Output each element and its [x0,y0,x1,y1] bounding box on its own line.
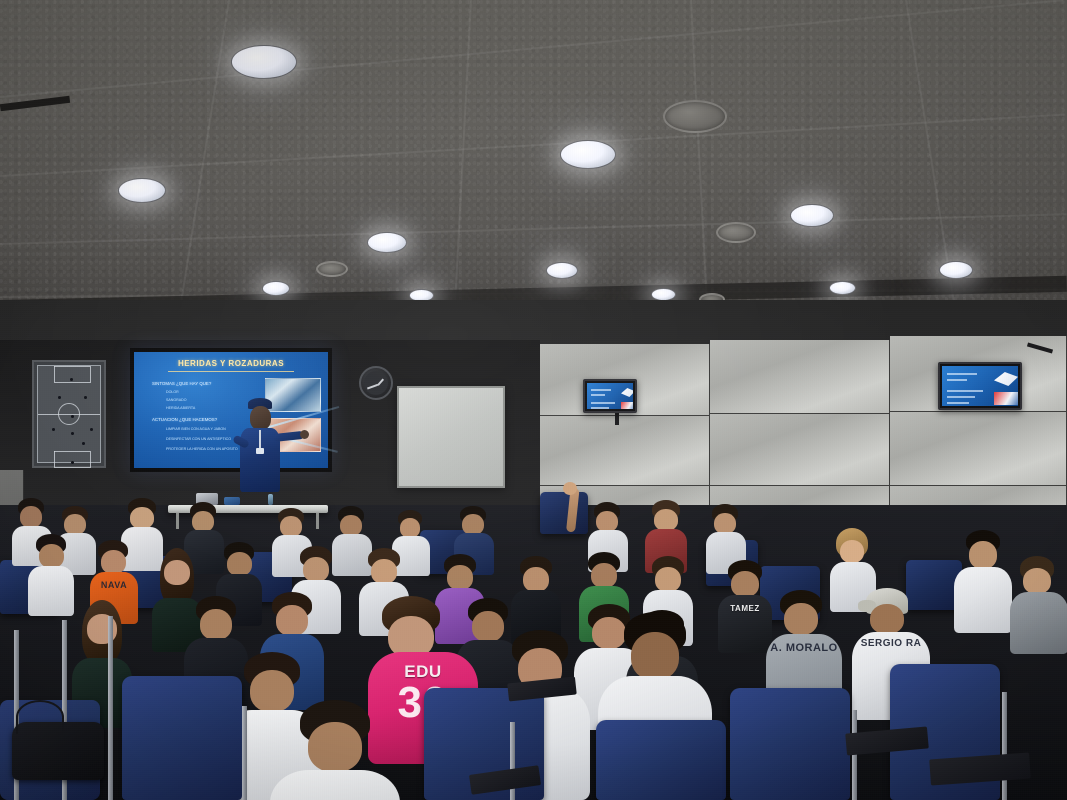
slide-sub-bullet: PROTEGER LA HERIDA CON UN APOSITO [166,447,238,451]
torso [270,770,400,800]
head [840,540,864,563]
monitor-badge [621,402,633,409]
head [447,565,473,590]
torso [954,567,1012,633]
monitor-screen [587,383,633,409]
monitor-logo [621,388,633,397]
ceiling-light [939,261,973,279]
ceiling [0,0,1067,340]
ceiling-light [790,204,834,227]
head [308,722,362,772]
pitch-box-line [54,451,90,452]
head [280,516,302,537]
head [371,559,397,584]
head [340,515,362,536]
pitch-box-line [90,366,91,382]
head [784,603,818,635]
ceiling-light [231,45,297,79]
jersey-label-sergio: SERGIO RA [852,638,930,649]
table-leg [316,513,319,529]
slide-title-underline [168,371,294,372]
ceiling-speaker [716,222,756,243]
monitor-text-line [947,402,969,404]
presenter-hand [300,430,309,439]
ceiling-light [546,262,578,279]
head [39,544,64,568]
slide-sub-bullet: HERIDA ABIERTA [166,406,195,410]
head [655,567,681,592]
slide-sub-bullet: DESINFECTAR CON UN ANTISEPTICO [166,437,231,441]
slide-title: HERIDAS Y ROZADURAS [134,359,328,368]
bag-strap [16,700,64,734]
slide-sub-bullet: LIMPIAR BIEN CON AGUA Y JABON [166,427,226,431]
lecture-room-photo: HERIDAS Y ROZADURAS SINTOMAS ¿QUE HAY QU… [0,0,1067,800]
wall-panel [710,340,890,414]
torso [1010,592,1067,654]
jersey-label-tamez: TAMEZ [718,604,772,613]
chair[interactable] [122,676,242,800]
pitch-player-marker [70,378,73,381]
head [472,611,504,642]
monitor-text-line [947,373,977,375]
chair-leg [108,616,113,800]
table-leg [176,513,179,529]
head [303,557,329,582]
pitch-player-marker [90,428,93,431]
presenter-head [250,406,271,430]
monitor-text-line [947,390,983,392]
head [731,571,759,597]
ceiling-light [118,178,166,203]
pitch-box-line [54,451,55,467]
monitor-text-line [591,389,611,391]
head [400,518,420,538]
head [631,632,679,680]
head [714,513,736,534]
presenter [228,398,298,510]
head [596,511,618,532]
head [200,609,232,640]
monitor-screen [942,366,1018,406]
head [64,514,86,535]
pitch-player-marker [58,396,61,399]
wall-panel [890,412,1067,486]
pitch-player-marker [82,442,85,445]
whiteboard [397,386,505,488]
chair-leg [1002,692,1007,800]
jersey-label-moralo: A. MORALO [766,642,842,654]
pitch-diagram [37,365,101,463]
wall-monitor-center[interactable] [583,379,637,413]
head [592,617,626,649]
monitor-badge [994,392,1018,405]
slide-sub-bullet: DOLOR [166,390,179,394]
slide-sub-bullet: SANGRADO [166,398,187,402]
monitor-logo [994,372,1018,386]
pitch-player-marker [71,461,74,464]
wall-monitor-right[interactable] [938,362,1022,410]
head [969,541,997,569]
head [130,507,154,529]
torso [28,566,74,616]
jersey-label-nava: NAVA [90,580,138,590]
ceiling-speaker [316,261,348,277]
pitch-box-line [90,451,91,467]
chair[interactable] [730,688,850,800]
head [523,567,549,592]
pitch-player-marker [52,428,55,431]
monitor-text-line [591,394,605,396]
torso [332,534,372,576]
presenter-badge [256,448,264,454]
monitor-text-line [591,402,615,404]
head [250,670,294,712]
head [101,550,126,574]
chair[interactable] [596,720,726,800]
head [227,552,252,576]
head [591,563,617,588]
monitor-text-line [947,396,975,398]
wall-panel [710,414,890,486]
head [870,604,904,634]
tactics-board [32,360,106,468]
monitor-text-line [591,407,609,409]
presenter-lanyard [259,430,261,448]
pitch-player-marker [71,415,74,418]
ceiling-light [367,232,407,253]
head [654,509,678,531]
pitch-box-line [54,366,55,382]
pitch-center-circle [58,403,80,425]
slide-bullet: ACTUACION ¿QUE HACEMOS? [152,417,217,422]
head [276,605,308,636]
pitch-box-line [54,382,91,383]
slide-bullet: SINTOMAS ¿QUE HAY QUE? [152,381,211,386]
clock-face [364,371,388,395]
ceiling-light [262,281,290,296]
wall-clock [359,366,393,400]
pitch-box-line [54,467,91,468]
pitch-box-line [54,366,90,367]
chair[interactable] [540,492,588,534]
ceiling-speaker [663,100,727,133]
raised-hand-fist [563,482,577,495]
head [192,511,214,532]
pitch-player-marker [71,432,74,435]
head [1023,568,1051,594]
ceiling-light [560,140,616,169]
ceiling-light [829,281,856,295]
pitch-player-marker [84,396,87,399]
chair-leg [242,706,247,800]
monitor-text-line [947,379,967,381]
head [462,514,484,535]
head [164,560,190,585]
head [20,506,42,528]
wall-panel [540,416,710,486]
